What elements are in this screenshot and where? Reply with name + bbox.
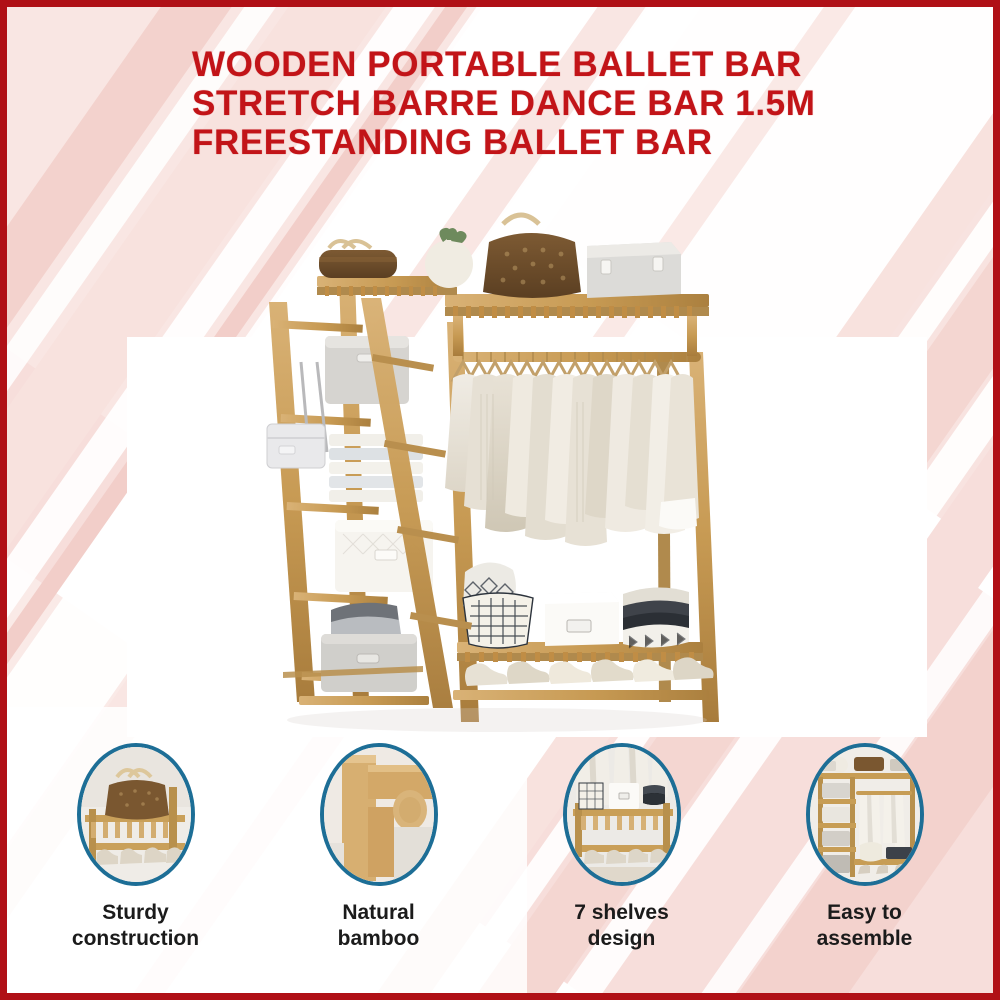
feature-caption-line2: construction [72, 926, 199, 952]
title-line-3: FREESTANDING BALLET BAR [192, 123, 952, 162]
feature-seven-shelves-design: 7 shelves design [500, 743, 743, 973]
feature-caption: Sturdy construction [72, 900, 199, 952]
assembled-wardrobe-icon [806, 743, 924, 886]
title-line-2: STRETCH BARRE DANCE BAR 1.5M [192, 84, 952, 123]
feature-caption: Natural bamboo [338, 900, 420, 952]
feature-caption-line1: 7 shelves [574, 900, 669, 926]
feature-easy-to-assemble: Easy to assemble [743, 743, 986, 973]
feature-caption-line2: bamboo [338, 926, 420, 952]
seven-shelf-rack-icon [563, 743, 681, 886]
feature-list: Sturdy construction [14, 743, 986, 973]
feature-natural-bamboo: Natural bamboo [257, 743, 500, 973]
feature-caption: 7 shelves design [574, 900, 669, 952]
page-title: WOODEN PORTABLE BALLET BAR STRETCH BARRE… [192, 45, 952, 162]
feature-sturdy-construction: Sturdy construction [14, 743, 257, 973]
hero-product-image [257, 202, 737, 742]
feature-caption-line1: Natural [338, 900, 420, 926]
shelf-with-handbag-icon [77, 743, 195, 886]
feature-caption: Easy to assemble [817, 900, 913, 952]
feature-caption-line2: assemble [817, 926, 913, 952]
feature-caption-line1: Easy to [817, 900, 913, 926]
feature-caption-line1: Sturdy [72, 900, 199, 926]
bamboo-joint-detail-icon [320, 743, 438, 886]
product-poster: WOODEN PORTABLE BALLET BAR STRETCH BARRE… [0, 0, 1000, 1000]
feature-caption-line2: design [574, 926, 669, 952]
title-line-1: WOODEN PORTABLE BALLET BAR [192, 45, 952, 84]
